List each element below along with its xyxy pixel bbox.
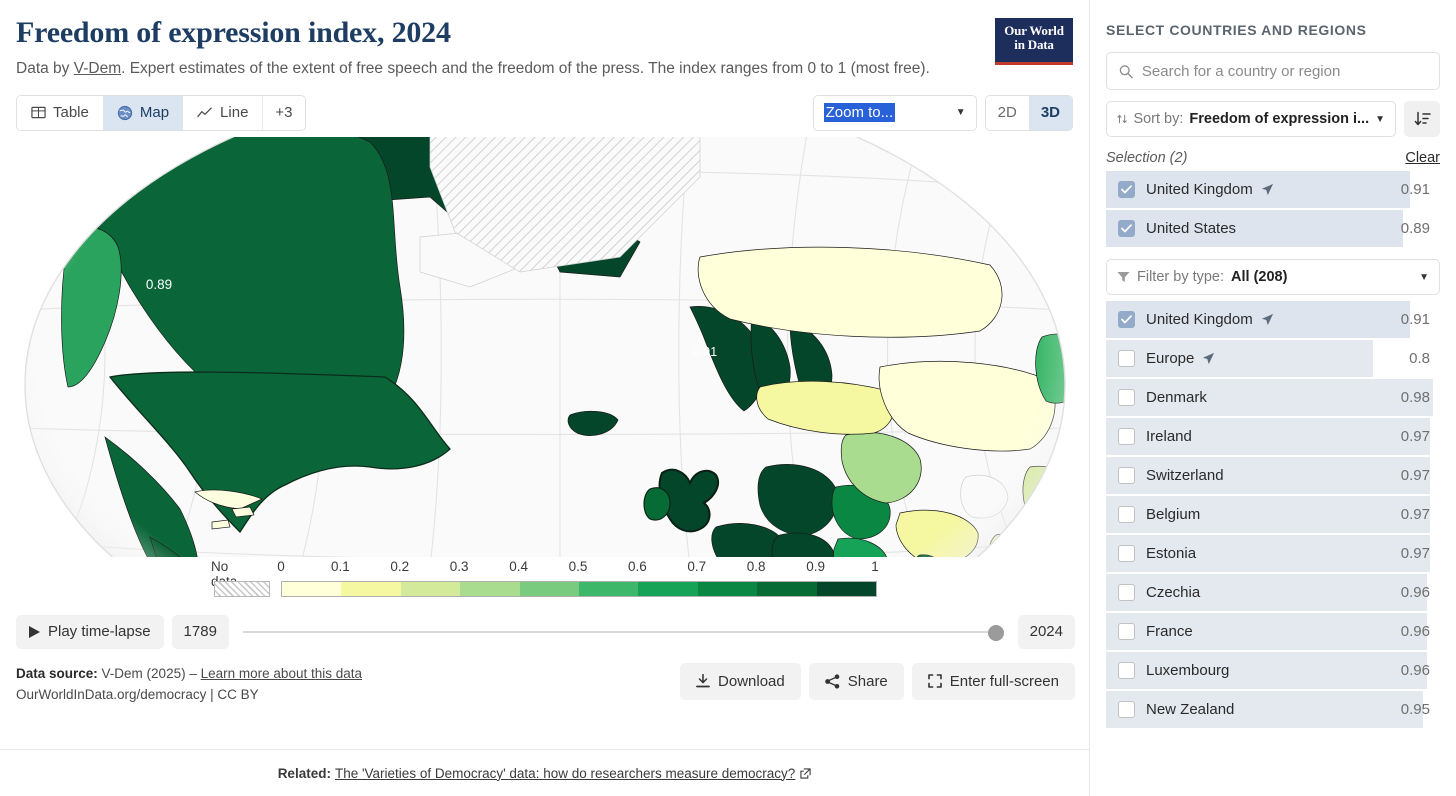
checkbox[interactable] [1118, 506, 1135, 523]
play-timelapse-button[interactable]: Play time-lapse [16, 615, 164, 649]
checkbox[interactable] [1118, 584, 1135, 601]
fullscreen-label: Enter full-screen [950, 673, 1059, 690]
owid-logo-line1: Our World [995, 24, 1073, 38]
filter-by-type-label: Filter by type: [1137, 269, 1224, 285]
zoom-to-select[interactable]: Zoom to... ▼ [813, 95, 977, 131]
filter-icon [1117, 271, 1130, 283]
legend-bin-4[interactable] [520, 582, 579, 596]
check-icon [1121, 224, 1132, 233]
toggle-3d[interactable]: 3D [1029, 96, 1072, 130]
pin-cursor-icon [1261, 313, 1274, 326]
country-name: Ireland [1146, 428, 1192, 445]
map-legend: No data 00.10.20.30.40.50.60.70.80.91 [0, 559, 1089, 607]
entity-selector-sidebar: SELECT COUNTRIES AND REGIONS Sort by: Fr… [1090, 0, 1456, 796]
legend-bin-3[interactable] [460, 582, 519, 596]
sort-row: Sort by: Freedom of expression i... ▼ [1106, 101, 1440, 137]
checkbox[interactable] [1118, 311, 1135, 328]
country-value: 0.8 [1409, 350, 1430, 367]
subtitle-text-pre: Data by [16, 60, 74, 77]
toggle-2d[interactable]: 2D [986, 96, 1029, 130]
country-name: Belgium [1146, 506, 1200, 523]
tab-line[interactable]: Line [183, 96, 262, 130]
source-prefix: Data source: [16, 666, 98, 681]
country-row[interactable]: France0.96 [1106, 612, 1440, 651]
globe-icon [117, 105, 133, 121]
table-icon [31, 105, 46, 120]
pin-cursor-icon [1202, 352, 1215, 365]
tab-table[interactable]: Table [17, 96, 103, 130]
legend-bin-9[interactable] [817, 582, 876, 596]
country-row[interactable]: United Kingdom0.91 [1106, 170, 1440, 209]
timeline-slider[interactable] [243, 615, 1004, 649]
legend-bin-8[interactable] [757, 582, 816, 596]
map-label-united-kingdom: 0.91 [693, 345, 717, 359]
filter-by-type-value: All (208) [1231, 269, 1287, 285]
play-icon [29, 626, 40, 638]
tab-map-label: Map [140, 104, 169, 121]
country-name: Luxembourg [1146, 662, 1229, 679]
pin-cursor-icon [1261, 183, 1274, 196]
country-value: 0.91 [1401, 311, 1430, 328]
legend-bin-1[interactable] [341, 582, 400, 596]
country-value: 0.97 [1401, 428, 1430, 445]
timeline-slider-handle[interactable] [988, 625, 1004, 641]
country-row[interactable]: United Kingdom0.91 [1106, 300, 1440, 339]
related-bar: Related: The 'Varieties of Democracy' da… [0, 749, 1089, 796]
fullscreen-button[interactable]: Enter full-screen [912, 663, 1075, 700]
check-icon [1121, 315, 1132, 324]
checkbox[interactable] [1118, 623, 1135, 640]
country-value: 0.96 [1401, 623, 1430, 640]
selection-count-label: Selection (2) [1106, 150, 1187, 166]
external-link-icon [800, 768, 811, 779]
legend-tick-0: 0 [277, 559, 285, 574]
sort-descending-icon [1414, 111, 1431, 127]
tab-map[interactable]: Map [103, 96, 183, 130]
country-value: 0.96 [1401, 584, 1430, 601]
country-name: United Kingdom [1146, 311, 1253, 328]
chart-actions: Download Share Enter full-screen [680, 663, 1075, 700]
country-value: 0.91 [1401, 181, 1430, 198]
timeline-end-year[interactable]: 2024 [1018, 615, 1075, 649]
related-prefix: Related: [278, 766, 331, 781]
map-view-controls: Zoom to... ▼ 2D 3D [813, 95, 1073, 131]
country-row[interactable]: Europe0.8 [1106, 339, 1440, 378]
legend-bin-6[interactable] [638, 582, 697, 596]
legend-bin-2[interactable] [401, 582, 460, 596]
country-row[interactable]: Luxembourg0.96 [1106, 651, 1440, 690]
legend-tick-0.8: 0.8 [747, 559, 766, 574]
checkbox[interactable] [1118, 467, 1135, 484]
country-value: 0.95 [1401, 701, 1430, 718]
owid-logo[interactable]: Our World in Data [995, 18, 1073, 65]
country-value: 0.89 [1401, 220, 1430, 237]
play-timelapse-label: Play time-lapse [48, 623, 151, 640]
download-button[interactable]: Download [680, 663, 801, 700]
chart-controls-row: Table Map Line +3 Zoom to... ▼ 2D [0, 79, 1089, 131]
source-info: Data source: V-Dem (2025) – Learn more a… [16, 663, 362, 706]
line-chart-icon [197, 106, 213, 120]
country-list: United Kingdom0.91Europe0.8Denmark0.98Ir… [1106, 300, 1440, 729]
country-name: France [1146, 623, 1193, 640]
legend-color-bins[interactable] [281, 581, 877, 597]
owid-grapher-page: Freedom of expression index, 2024 Data b… [0, 0, 1456, 796]
checkbox[interactable] [1118, 350, 1135, 367]
fullscreen-icon [928, 674, 942, 688]
legend-bin-0[interactable] [282, 582, 341, 596]
legend-tick-0.5: 0.5 [569, 559, 588, 574]
legend-tick-0.3: 0.3 [450, 559, 469, 574]
country-row[interactable]: United States0.89 [1106, 209, 1440, 248]
country-name: Denmark [1146, 389, 1207, 406]
country-value: 0.98 [1401, 389, 1430, 406]
country-name: Europe [1146, 350, 1194, 367]
search-box[interactable] [1106, 52, 1440, 90]
legend-tick-0.1: 0.1 [331, 559, 350, 574]
country-name: United Kingdom [1146, 181, 1253, 198]
source-dash: – [189, 666, 197, 681]
checkbox[interactable] [1118, 662, 1135, 679]
country-value: 0.97 [1401, 545, 1430, 562]
country-row[interactable]: Denmark0.98 [1106, 378, 1440, 417]
check-icon [1121, 185, 1132, 194]
tab-more-button[interactable]: +3 [262, 96, 304, 130]
pin-cursor-icon [1261, 183, 1274, 196]
learn-more-link[interactable]: Learn more about this data [201, 666, 362, 681]
globe-rim-shading [25, 137, 1065, 557]
filter-by-type-select[interactable]: Filter by type: All (208) ▼ [1106, 259, 1440, 295]
legend-tick-0.2: 0.2 [390, 559, 409, 574]
share-button[interactable]: Share [809, 663, 904, 700]
country-value: 0.97 [1401, 467, 1430, 484]
pin-cursor-icon [1202, 352, 1215, 365]
legend-tick-0.4: 0.4 [509, 559, 528, 574]
download-label: Download [718, 673, 785, 690]
checkbox[interactable] [1118, 220, 1135, 237]
country-name: New Zealand [1146, 701, 1234, 718]
country-name: United States [1146, 220, 1236, 237]
checkbox[interactable] [1118, 701, 1135, 718]
country-name: Estonia [1146, 545, 1196, 562]
legend-tick-0.9: 0.9 [806, 559, 825, 574]
sort-by-value: Freedom of expression i... [1189, 111, 1369, 127]
legend-bin-7[interactable] [698, 582, 757, 596]
map-label-united-states: 0.89 [146, 277, 172, 292]
pin-cursor-icon [1261, 313, 1274, 326]
legend-tick-1: 1 [871, 559, 879, 574]
world-map[interactable]: 0.89 0.91 [0, 137, 1090, 557]
chevron-down-icon: ▼ [1419, 272, 1429, 283]
search-input[interactable] [1142, 63, 1427, 80]
sort-by-select[interactable]: Sort by: Freedom of expression i... ▼ [1106, 101, 1396, 137]
country-row[interactable]: Switzerland0.97 [1106, 456, 1440, 495]
share-icon [825, 674, 840, 689]
chart-panel: Freedom of expression index, 2024 Data b… [0, 0, 1090, 796]
country-row[interactable]: Estonia0.97 [1106, 534, 1440, 573]
chart-header: Freedom of expression index, 2024 Data b… [0, 0, 1089, 79]
source-name: V-Dem (2025) [102, 666, 186, 681]
page-title: Freedom of expression index, 2024 [16, 16, 1073, 51]
map-svg[interactable]: 0.89 0.91 [0, 137, 1090, 557]
owid-logo-line2: in Data [995, 38, 1073, 52]
selected-entities-list: United Kingdom0.91United States0.89 [1106, 170, 1440, 248]
legend-bin-5[interactable] [579, 582, 638, 596]
country-value: 0.97 [1401, 506, 1430, 523]
zoom-to-label: Zoom to... [824, 103, 896, 122]
related-link[interactable]: The 'Varieties of Democracy' data: how d… [335, 766, 795, 781]
chart-subtitle: Data by V-Dem. Expert estimates of the e… [16, 58, 946, 79]
country-name: Czechia [1146, 584, 1200, 601]
selection-header: Selection (2) Clear [1106, 150, 1440, 166]
timeline-controls: Play time-lapse 1789 2024 [0, 607, 1089, 649]
license-text: OurWorldInData.org/democracy | CC BY [16, 684, 362, 706]
checkbox[interactable] [1118, 389, 1135, 406]
checkbox[interactable] [1118, 545, 1135, 562]
chart-type-tabs: Table Map Line +3 [16, 95, 306, 131]
search-icon [1119, 64, 1133, 79]
chevron-down-icon: ▼ [956, 107, 966, 118]
sidebar-title: SELECT COUNTRIES AND REGIONS [1106, 22, 1440, 38]
checkbox[interactable] [1118, 428, 1135, 445]
country-row[interactable]: Ireland0.97 [1106, 417, 1440, 456]
legend-tick-0.6: 0.6 [628, 559, 647, 574]
clear-selection-button[interactable]: Clear [1405, 150, 1440, 166]
source-row: Data source: V-Dem (2025) – Learn more a… [0, 649, 1089, 706]
country-row[interactable]: Czechia0.96 [1106, 573, 1440, 612]
country-row[interactable]: New Zealand0.95 [1106, 690, 1440, 729]
country-name: Switzerland [1146, 467, 1224, 484]
sort-direction-button[interactable] [1404, 101, 1440, 137]
tab-table-label: Table [53, 104, 89, 121]
share-label: Share [848, 673, 888, 690]
country-east-limb-a[interactable] [1050, 509, 1090, 557]
country-row[interactable]: Belgium0.97 [1106, 495, 1440, 534]
legend-tick-0.7: 0.7 [687, 559, 706, 574]
sort-by-label: Sort by: [1133, 111, 1183, 127]
timeline-start-year[interactable]: 1789 [172, 615, 229, 649]
country-east-limb-b[interactable] [1062, 435, 1090, 503]
dimension-toggle: 2D 3D [985, 95, 1073, 131]
globe-body [0, 137, 1090, 557]
vdem-link[interactable]: V-Dem [74, 60, 121, 77]
download-icon [696, 674, 710, 689]
timeline-slider-track[interactable] [243, 631, 1004, 633]
sort-arrows-icon [1117, 112, 1127, 126]
legend-no-data-swatch[interactable] [214, 581, 270, 597]
subtitle-text-post: . Expert estimates of the extent of free… [121, 60, 930, 77]
country-value: 0.96 [1401, 662, 1430, 679]
checkbox[interactable] [1118, 181, 1135, 198]
chevron-down-icon: ▼ [1375, 114, 1385, 125]
tab-line-label: Line [220, 104, 248, 121]
